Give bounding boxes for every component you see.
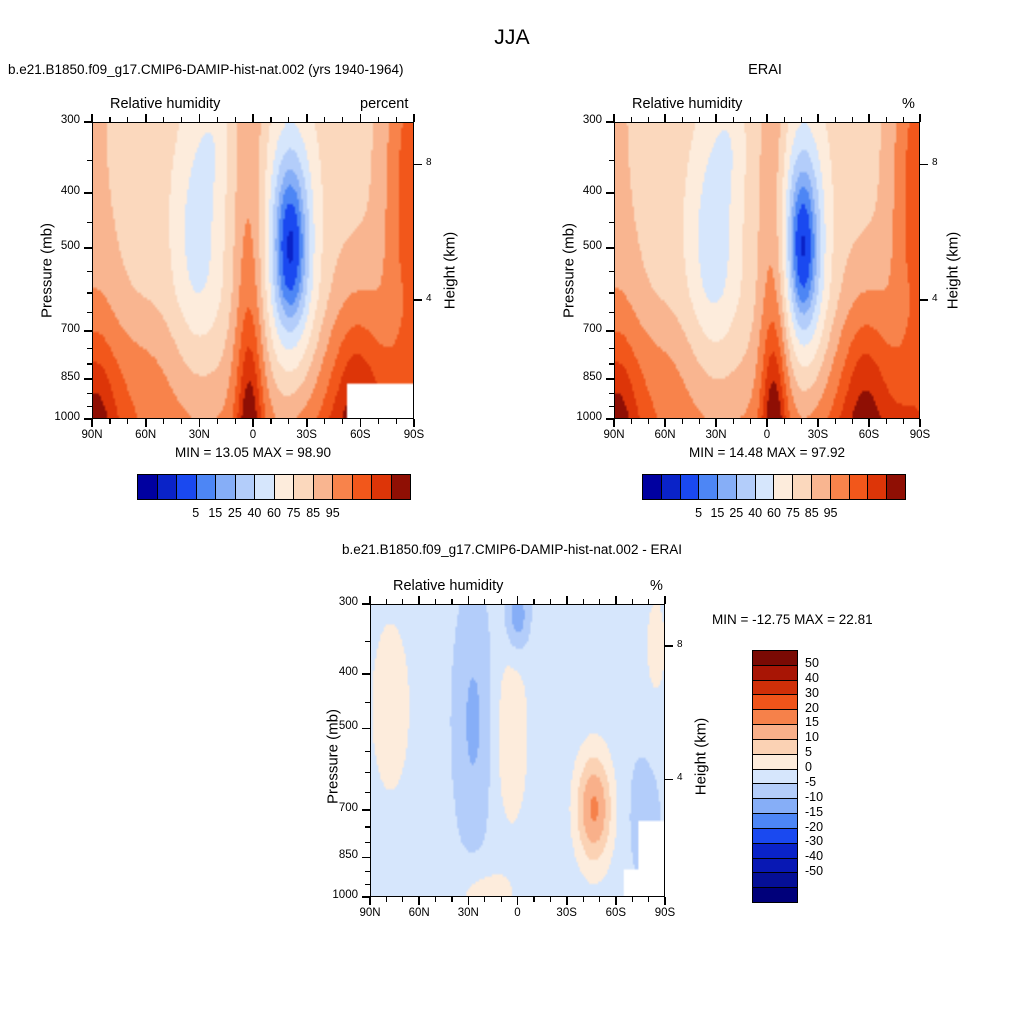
obs-yminor-650 [609,312,614,313]
obs-colorbar[interactable] [642,474,906,500]
diff-xlabel-6: 90S [635,907,695,919]
model-xtopminor-4-1 [324,117,325,122]
diff-colorbar-swatch-13 [753,844,797,859]
diff-xtoptick-1 [418,596,420,604]
model-xlabel-6: 90S [384,429,444,441]
obs-yminor-750 [609,348,614,349]
model-ylabel-850: 850 [36,371,80,383]
diff-colorbar-label-20: 20 [805,701,839,715]
obs-xminor-4-2 [852,419,853,424]
obs-colorbar-swatch-7 [774,475,793,499]
model-colorbar-swatch-7 [275,475,295,499]
diff-xminor-5-2 [648,897,649,902]
model-yminor-950 [87,406,92,407]
obs-colorbar-label-95: 95 [801,506,861,520]
obs-y2label-8: 8 [932,157,938,168]
model-xtoptick-4 [306,114,308,122]
diff-xtopminor-2-1 [484,599,485,604]
diff-colorbar-swatch-12 [753,829,797,844]
diff-xtick-4 [566,897,568,905]
model-xminor-5-1 [378,419,379,424]
model-xtoptick-5 [360,114,362,122]
diff-xtoptick-2 [468,596,470,604]
diff-y2label-4: 4 [677,772,683,783]
obs-xtopminor-3-1 [784,117,785,122]
obs-y2tick-4 [920,299,928,301]
model-ylabel-300: 300 [36,114,80,126]
diff-xtick-6 [664,897,666,905]
diff-colorbar-swatch-5 [753,725,797,740]
obs-y2-axis-title: Height (km) [945,211,962,331]
model-ylabel-400: 400 [36,185,80,197]
obs-colorbar-swatch-13 [887,475,905,499]
diff-colorbar[interactable] [752,650,798,903]
obs-yminor-800 [609,363,614,364]
model-colorbar-swatch-2 [177,475,197,499]
model-yminor-650 [87,312,92,313]
diff-y2-axis-title: Height (km) [693,697,710,817]
obs-colorbar-swatch-5 [737,475,756,499]
diff-colorbar-swatch-8 [753,770,797,785]
obs-ytick-400 [606,192,614,194]
obs-xtopminor-5-2 [903,117,904,122]
diff-xtopminor-1-2 [451,599,452,604]
model-xtick-6 [413,419,415,427]
model-xminor-5-2 [396,419,397,424]
diff-panel-title: b.e21.B1850.f09_g17.CMIP6-DAMIP-hist-nat… [212,542,812,557]
model-minmax-label: MIN = 13.05 MAX = 98.90 [12,445,494,460]
model-ytick-700 [84,330,92,332]
model-xminor-3-2 [288,419,289,424]
diff-xtoptick-3 [517,596,519,604]
diff-minmax-label: MIN = -12.75 MAX = 22.81 [712,612,873,627]
diff-yminor-950 [365,884,370,885]
model-y2label-8: 8 [426,157,432,168]
diff-ylabel-850: 850 [314,849,358,861]
obs-xtoptick-5 [868,114,870,122]
diff-colorbar-swatch-15 [753,873,797,888]
obs-xtick-4 [817,419,819,427]
model-xtick-0 [91,419,93,427]
obs-yminor-350 [609,160,614,161]
model-xlabel-5: 60S [330,429,390,441]
obs-contour-plot[interactable] [614,122,920,419]
model-xtoptick-0 [91,114,93,122]
model-colorbar-swatch-9 [314,475,334,499]
model-yminor-600 [87,292,92,293]
diff-xtopminor-2-2 [501,599,502,604]
model-colorbar-swatch-13 [392,475,411,499]
model-xtopminor-2-1 [217,117,218,122]
diff-xminor-5-1 [632,897,633,902]
diff-xtopminor-1-1 [435,599,436,604]
model-colorbar-swatch-6 [255,475,275,499]
diff-xtick-1 [418,897,420,905]
obs-xtopminor-0-2 [648,117,649,122]
model-ylabel-500: 500 [36,240,80,252]
obs-xtick-2 [715,419,717,427]
model-xtoptick-6 [413,114,415,122]
obs-xminor-1-2 [699,419,700,424]
diff-colorbar-swatch-6 [753,740,797,755]
diff-yminor-750 [365,826,370,827]
diff-xminor-3-1 [533,897,534,902]
diff-ytick-500 [362,728,370,730]
obs-xminor-3-1 [784,419,785,424]
season-title: JJA [462,26,562,50]
model-ytick-400 [84,192,92,194]
diff-y-axis-title: Pressure (mb) [325,697,342,817]
obs-xtick-5 [868,419,870,427]
model-xlabel-4: 30S [277,429,337,441]
model-colorbar[interactable] [137,474,411,500]
diff-colorbar-label--20: -20 [805,820,839,834]
obs-xtopminor-4-2 [852,117,853,122]
obs-colorbar-swatch-11 [850,475,869,499]
model-y2label-4: 4 [426,293,432,304]
obs-y2label-4: 4 [932,293,938,304]
model-xtoptick-3 [252,114,254,122]
model-colorbar-swatch-8 [294,475,314,499]
obs-xtoptick-0 [613,114,615,122]
model-units-label: percent [360,96,408,112]
model-xtoptick-1 [145,114,147,122]
obs-xminor-2-2 [750,419,751,424]
obs-xminor-5-2 [903,419,904,424]
diff-yminor-800 [365,842,370,843]
obs-ytick-850 [606,378,614,380]
diff-colorbar-label--50: -50 [805,864,839,878]
diff-ylabel-500: 500 [314,720,358,732]
model-xminor-2-2 [235,419,236,424]
model-yminor-550 [87,271,92,272]
obs-xtoptick-4 [817,114,819,122]
diff-y2label-8: 8 [677,639,683,650]
model-xtopminor-0-2 [127,117,128,122]
obs-field-label: Relative humidity [632,96,742,112]
model-ylabel-1000: 1000 [36,411,80,423]
model-xlabel-2: 30N [169,429,229,441]
obs-ylabel-1000: 1000 [558,411,602,423]
model-colorbar-swatch-1 [158,475,178,499]
diff-xtick-2 [468,897,470,905]
obs-xtopminor-1-1 [682,117,683,122]
model-xtick-5 [360,419,362,427]
diff-xminor-0-2 [402,897,403,902]
obs-y-axis-title: Pressure (mb) [561,211,578,331]
obs-xtopminor-1-2 [699,117,700,122]
obs-xtick-3 [766,419,768,427]
obs-xminor-0-2 [648,419,649,424]
diff-xtoptick-5 [615,596,617,604]
obs-ylabel-700: 700 [558,323,602,335]
diff-y2tick-8 [665,645,673,647]
obs-yminor-550 [609,271,614,272]
diff-xtick-5 [615,897,617,905]
diff-colorbar-swatch-0 [753,651,797,666]
diff-xminor-2-2 [501,897,502,902]
diff-colorbar-swatch-2 [753,681,797,696]
obs-colorbar-swatch-12 [868,475,887,499]
diff-colorbar-label--30: -30 [805,834,839,848]
model-colorbar-label-95: 95 [303,506,363,520]
diff-yminor-900 [365,871,370,872]
obs-xtoptick-6 [919,114,921,122]
diff-colorbar-label--10: -10 [805,790,839,804]
model-xtopminor-5-1 [378,117,379,122]
model-y2tick-8 [414,164,422,166]
diff-xminor-2-1 [484,897,485,902]
diff-colorbar-swatch-16 [753,888,797,902]
model-xtopminor-3-1 [270,117,271,122]
model-yminor-900 [87,393,92,394]
obs-xminor-4-1 [835,419,836,424]
model-xtick-1 [145,419,147,427]
diff-colorbar-label--5: -5 [805,775,839,789]
diff-colorbar-label-10: 10 [805,730,839,744]
model-ytick-500 [84,247,92,249]
diff-ytick-400 [362,673,370,675]
diff-xtoptick-0 [369,596,371,604]
model-colorbar-swatch-5 [236,475,256,499]
obs-ylabel-300: 300 [558,114,602,126]
diff-colorbar-swatch-4 [753,710,797,725]
diff-colorbar-label-0: 0 [805,760,839,774]
obs-xtick-6 [919,419,921,427]
model-xminor-0-1 [109,419,110,424]
obs-ylabel-400: 400 [558,185,602,197]
model-ytick-850 [84,378,92,380]
model-yminor-750 [87,348,92,349]
diff-units-label: % [650,578,663,594]
model-xminor-2-1 [217,419,218,424]
obs-colorbar-swatch-2 [681,475,700,499]
model-xminor-0-2 [127,419,128,424]
obs-xtopminor-3-2 [801,117,802,122]
diff-xtopminor-4-2 [599,599,600,604]
obs-xtopminor-0-1 [631,117,632,122]
model-y2tick-4 [414,299,422,301]
obs-minmax-label: MIN = 14.48 MAX = 97.92 [534,445,1000,460]
model-yminor-350 [87,160,92,161]
model-yminor-800 [87,363,92,364]
obs-xtopminor-5-1 [886,117,887,122]
obs-xtoptick-1 [664,114,666,122]
diff-field [371,605,664,896]
diff-colorbar-swatch-1 [753,666,797,681]
diff-xtopminor-0-1 [386,599,387,604]
diff-xminor-1-2 [451,897,452,902]
diff-xminor-1-1 [435,897,436,902]
obs-xminor-1-1 [682,419,683,424]
model-xlabel-3: 0 [223,429,283,441]
obs-colorbar-swatch-10 [831,475,850,499]
diff-colorbar-label-40: 40 [805,671,839,685]
diff-colorbar-label-50: 50 [805,656,839,670]
obs-xtoptick-3 [766,114,768,122]
model-xtick-4 [306,419,308,427]
obs-xtick-0 [613,419,615,427]
model-y-axis-title: Pressure (mb) [39,211,56,331]
model-colorbar-swatch-11 [353,475,373,499]
obs-xminor-2-1 [733,419,734,424]
obs-xlabel-6: 90S [890,429,950,441]
obs-yminor-600 [609,292,614,293]
diff-colorbar-label-5: 5 [805,745,839,759]
model-xlabel-0: 90N [62,429,122,441]
obs-yminor-950 [609,406,614,407]
model-xminor-1-2 [181,419,182,424]
obs-colorbar-swatch-4 [718,475,737,499]
model-xtopminor-5-2 [396,117,397,122]
diff-yminor-450 [365,702,370,703]
obs-ytick-700 [606,330,614,332]
diff-ylabel-700: 700 [314,802,358,814]
diff-xtoptick-4 [566,596,568,604]
obs-xtick-1 [664,419,666,427]
model-xtopminor-3-2 [288,117,289,122]
diff-y2tick-4 [665,779,673,781]
diff-xtopminor-4-1 [583,599,584,604]
model-xtopminor-0-1 [109,117,110,122]
diff-colorbar-label--15: -15 [805,805,839,819]
diff-colorbar-label-30: 30 [805,686,839,700]
model-yminor-450 [87,222,92,223]
diff-ylabel-300: 300 [314,596,358,608]
diff-colorbar-label--40: -40 [805,849,839,863]
obs-xtopminor-2-2 [750,117,751,122]
diff-ylabel-400: 400 [314,666,358,678]
diff-xtopminor-3-2 [550,599,551,604]
obs-ylabel-500: 500 [558,240,602,252]
diff-xminor-0-1 [386,897,387,902]
diff-xtick-0 [369,897,371,905]
diff-ytick-850 [362,857,370,859]
model-colorbar-swatch-12 [372,475,392,499]
model-ylabel-700: 700 [36,323,80,335]
diff-xtopminor-5-1 [632,599,633,604]
model-colorbar-swatch-4 [216,475,236,499]
diff-yminor-550 [365,751,370,752]
model-colorbar-swatch-0 [138,475,158,499]
obs-colorbar-swatch-9 [812,475,831,499]
model-xtoptick-2 [199,114,201,122]
diff-xminor-3-2 [550,897,551,902]
diff-xminor-4-1 [583,897,584,902]
diff-xtick-3 [517,897,519,905]
model-xtopminor-1-1 [163,117,164,122]
diff-xtoptick-6 [664,596,666,604]
diff-colorbar-swatch-11 [753,814,797,829]
model-y2-axis-title: Height (km) [442,211,459,331]
diff-colorbar-swatch-3 [753,695,797,710]
model-colorbar-swatch-10 [333,475,353,499]
obs-xminor-0-1 [631,419,632,424]
obs-units-label: % [902,96,915,112]
obs-colorbar-swatch-6 [756,475,775,499]
diff-colorbar-swatch-7 [753,755,797,770]
diff-field-label: Relative humidity [393,578,503,594]
obs-xtopminor-4-1 [835,117,836,122]
model-xtopminor-1-2 [181,117,182,122]
model-xminor-1-1 [163,419,164,424]
diff-ylabel-1000: 1000 [314,889,358,901]
obs-xtoptick-2 [715,114,717,122]
diff-xtopminor-3-1 [533,599,534,604]
model-field [93,123,413,418]
model-field-label: Relative humidity [110,96,220,112]
model-xtopminor-2-2 [235,117,236,122]
obs-colorbar-swatch-3 [699,475,718,499]
diff-yminor-350 [365,641,370,642]
model-xtopminor-4-2 [342,117,343,122]
obs-xminor-3-2 [801,419,802,424]
obs-yminor-450 [609,222,614,223]
diff-contour-plot[interactable] [370,604,665,897]
model-xtick-3 [252,419,254,427]
diff-colorbar-swatch-9 [753,784,797,799]
diff-colorbar-swatch-10 [753,799,797,814]
obs-xminor-5-1 [886,419,887,424]
model-xtick-2 [199,419,201,427]
diff-xtopminor-0-2 [402,599,403,604]
diff-xminor-4-2 [599,897,600,902]
diff-colorbar-swatch-14 [753,859,797,874]
diff-yminor-600 [365,772,370,773]
obs-y2tick-8 [920,164,928,166]
model-xminor-4-1 [324,419,325,424]
diff-ytick-700 [362,809,370,811]
model-xminor-3-1 [270,419,271,424]
model-panel-title: b.e21.B1850.f09_g17.CMIP6-DAMIP-hist-nat… [8,62,403,77]
diff-xtopminor-5-2 [648,599,649,604]
diff-colorbar-label-15: 15 [805,715,839,729]
obs-panel-title: ERAI [705,62,825,78]
obs-ylabel-850: 850 [558,371,602,383]
model-xminor-4-2 [342,419,343,424]
obs-yminor-900 [609,393,614,394]
diff-yminor-650 [365,792,370,793]
obs-colorbar-swatch-0 [643,475,662,499]
obs-field [615,123,919,418]
obs-colorbar-swatch-1 [662,475,681,499]
obs-xtopminor-2-1 [733,117,734,122]
obs-colorbar-swatch-8 [793,475,812,499]
obs-ytick-500 [606,247,614,249]
model-xlabel-1: 60N [116,429,176,441]
model-contour-plot[interactable] [92,122,414,419]
model-colorbar-swatch-3 [197,475,217,499]
